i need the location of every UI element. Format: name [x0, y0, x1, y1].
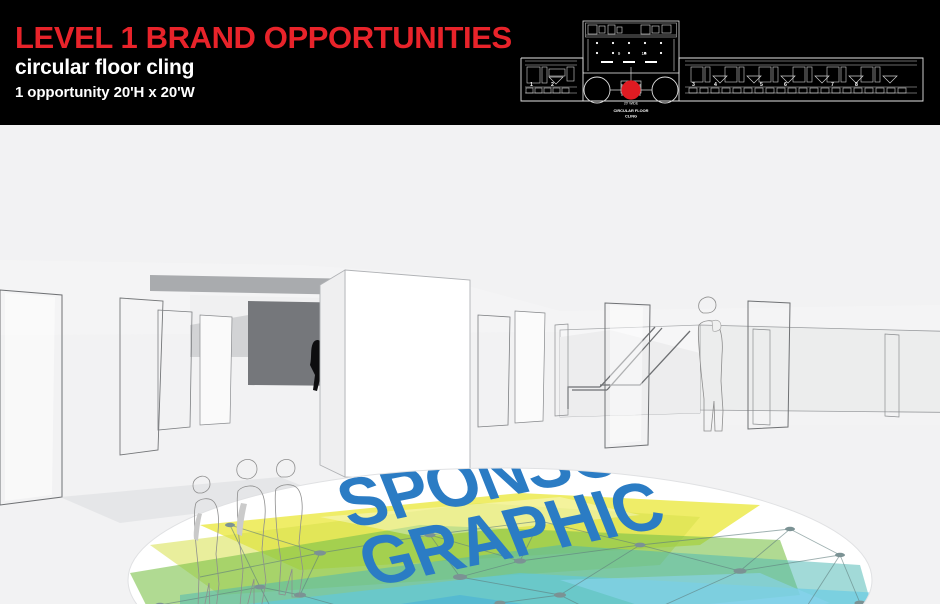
page-subtitle: circular floor cling [15, 57, 194, 78]
keyplan-zone-1: 1 [530, 82, 533, 88]
column-5 [478, 315, 510, 427]
column-4 [200, 315, 232, 425]
keyplan-zone-8: 8 [855, 82, 858, 88]
presentation-slide: LEVEL 1 BRAND OPPORTUNITIES circular flo… [0, 0, 940, 604]
keyplan-zone-2: 2 [551, 82, 554, 88]
keyplan-zone-4: 4 [714, 82, 717, 88]
keyplan-zone-5: 5 [760, 82, 763, 88]
lobby-render-image: 0#b5b6b9 1#c8c9cb 0#e3e4e6 0.55#f0f0f2 1… [0, 125, 940, 604]
keyplan-marker-label-line2: CLING [625, 114, 637, 119]
keyplan-zone-10: 10 [641, 51, 647, 56]
keyplan-marker-dimension: 20' WIDE [624, 102, 639, 106]
column-3 [158, 310, 192, 430]
keyplan-zone-7: 7 [831, 82, 834, 88]
keyplan-zone-6: 6 [784, 82, 787, 88]
column-8 [748, 301, 790, 429]
key-plan-diagram: 9 10 [513, 5, 931, 123]
slide-header: LEVEL 1 BRAND OPPORTUNITIES circular flo… [0, 0, 940, 125]
column-2 [120, 298, 163, 455]
column-6 [515, 311, 545, 423]
keyplan-marker-label-line1: CIRCULAR FLOOR [613, 108, 648, 113]
central-kiosk-volume [320, 270, 470, 483]
keyplan-zone-3: 3 [692, 82, 695, 88]
opportunity-details: 1 opportunity 20'H x 20'W [15, 85, 195, 100]
keyplan-zone-9: 9 [618, 51, 621, 56]
page-title: LEVEL 1 BRAND OPPORTUNITIES [15, 22, 512, 53]
